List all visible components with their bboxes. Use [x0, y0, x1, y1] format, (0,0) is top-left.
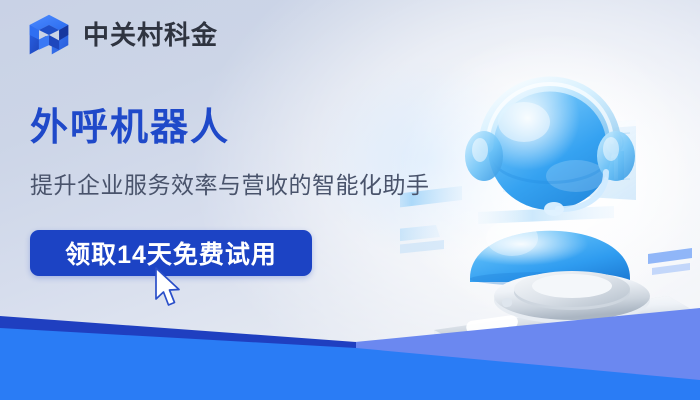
isometric-cube-logo-icon	[26, 12, 72, 58]
band-navy	[0, 316, 356, 352]
band-periwinkle	[355, 308, 700, 400]
promo-banner: 中关村科金 外呼机器人 提升企业服务效率与营收的智能化助手 领取14天免费试用	[0, 0, 700, 400]
headphones-icon	[465, 84, 635, 216]
band-bright-blue	[0, 328, 700, 400]
mascot-illustration	[400, 0, 700, 400]
hero-title: 外呼机器人	[30, 108, 230, 150]
decorative-diagonal-bands	[0, 270, 700, 400]
free-trial-cta-button[interactable]: 领取14天免费试用	[30, 230, 312, 276]
hero-subtitle: 提升企业服务效率与营收的智能化助手	[30, 172, 430, 200]
brand-name: 中关村科金	[83, 22, 218, 48]
metal-circular-pedestal	[434, 271, 696, 372]
glass-equalizer-panel	[503, 120, 636, 200]
mascot-head	[488, 86, 612, 210]
mascot-body	[470, 220, 630, 286]
brand-logo[interactable]: 中关村科金	[26, 12, 218, 58]
background-glow-secondary	[310, 60, 550, 260]
